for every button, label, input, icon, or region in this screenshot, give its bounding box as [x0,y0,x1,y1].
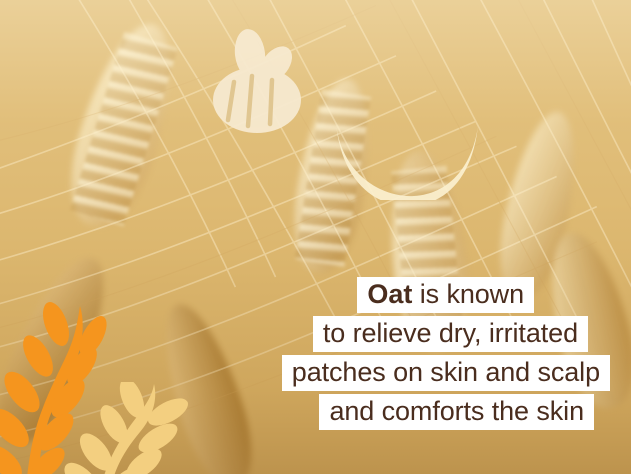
oat-benefit-card: Oat is known to relieve dry, irritated p… [0,0,631,474]
caption-line-3: patches on skin and scalp [282,355,610,391]
caption-line-2: to relieve dry, irritated [313,316,588,352]
wheat-sprig-cream-icon [58,382,198,474]
caption-line-1-text: is known [412,279,524,309]
caption-block: Oat is known to relieve dry, irritated p… [282,277,610,430]
caption-line-4: and comforts the skin [319,394,594,430]
crescent-smile-icon [332,118,482,200]
bee-icon [204,28,316,140]
caption-lead-word: Oat [367,279,412,309]
caption-line-1: Oat is known [357,277,534,313]
